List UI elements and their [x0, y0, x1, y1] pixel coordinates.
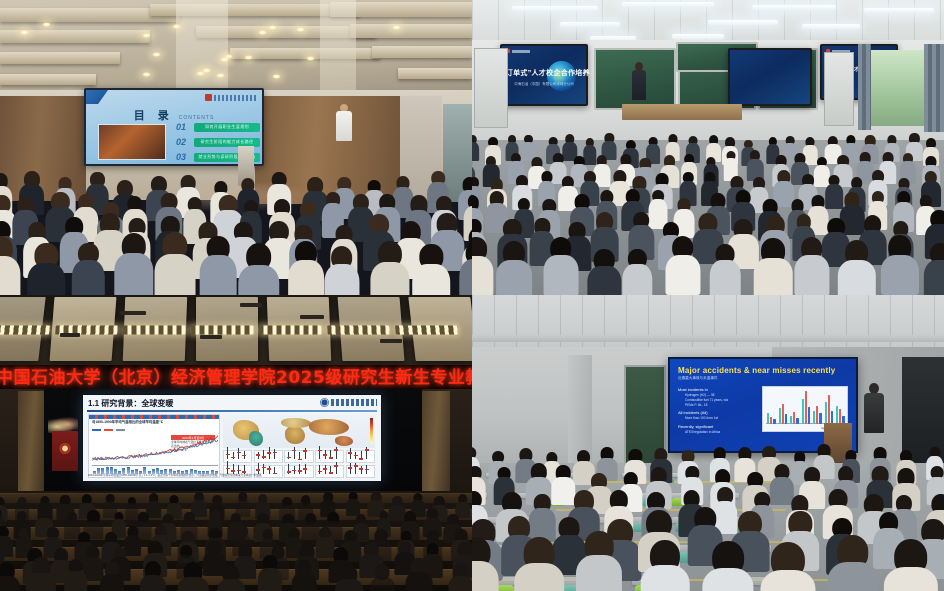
agenda-number: 02	[176, 137, 189, 147]
downlight-icon	[42, 22, 51, 27]
downlight-icon	[202, 68, 211, 73]
audience-member	[884, 539, 938, 591]
audience-member	[258, 555, 282, 591]
ceiling-beam	[0, 52, 120, 64]
person-body	[0, 576, 20, 591]
audience-member	[702, 541, 753, 591]
median-marker	[329, 457, 333, 459]
audience-member	[665, 236, 700, 295]
ceiling-beam	[350, 24, 472, 38]
audience-member	[370, 564, 394, 591]
display-left: “订单式”人才校企合作培养 中海石油（中国）有限公司深圳分公司	[500, 44, 588, 106]
whisker	[319, 446, 320, 459]
map-europe	[281, 418, 311, 428]
downlight-icon	[244, 55, 253, 60]
person-body	[754, 258, 793, 295]
chart-bar	[782, 404, 784, 424]
audience-member	[472, 237, 493, 295]
map-africa	[285, 426, 305, 444]
chart-bar	[808, 407, 810, 424]
person-body	[924, 260, 944, 295]
audience-member	[641, 540, 690, 591]
fluorescent-tube-icon	[622, 2, 714, 7]
median-marker	[287, 471, 291, 473]
logo-mark-icon	[205, 94, 212, 101]
person-body	[406, 572, 433, 591]
person-body	[459, 259, 472, 295]
ceiling-soffit	[320, 0, 356, 92]
ceiling-soffit	[176, 0, 228, 96]
display-right	[728, 48, 812, 106]
median-marker	[318, 471, 322, 473]
whisker	[238, 465, 239, 474]
downlight-icon	[152, 52, 161, 57]
ceiling-beam	[398, 68, 472, 79]
map-asia	[309, 419, 349, 435]
slide-bullet-list: Most incidents in Hydrogen (H2) — 38 Com…	[678, 385, 762, 435]
person-body	[324, 264, 359, 295]
quadrant-bottom-right-lecture-room: Major accidents & near misses recently 近…	[472, 295, 944, 591]
person-body	[218, 579, 246, 591]
audience-member	[72, 243, 104, 295]
whisker	[305, 464, 306, 475]
person-body	[335, 579, 363, 591]
university-wordmark	[331, 399, 377, 406]
display-slide-subtitle: 中海石油（中国）有限公司深圳分公司	[502, 82, 586, 87]
logo-wordmark	[214, 95, 258, 101]
median-marker	[318, 450, 322, 452]
whisker	[294, 447, 295, 459]
boxplot-panel	[284, 450, 313, 463]
display-slide-title: “订单式”人才校企合作培养	[502, 68, 586, 78]
boxplot-panel	[254, 450, 283, 463]
fluorescent-tube-icon	[864, 8, 934, 13]
person-body	[543, 255, 578, 295]
whisker	[330, 466, 331, 474]
fluorescent-tube-icon	[512, 6, 598, 11]
audience-member	[924, 243, 944, 295]
whisker	[274, 467, 275, 474]
median-marker	[354, 465, 358, 467]
audience-member	[881, 235, 919, 295]
list-item: 01 如何开展职业生涯规划	[176, 122, 260, 132]
median-marker	[323, 454, 327, 456]
person-body	[370, 577, 394, 591]
person-body	[702, 568, 753, 591]
whisker	[305, 448, 306, 460]
bullet-sub: ATEX/regulation in Africa	[685, 430, 762, 435]
chart-bar	[839, 409, 841, 424]
audience-member	[154, 232, 195, 295]
tick-bar	[106, 467, 109, 474]
bullet-head: All incidents (All)	[678, 410, 762, 415]
person-body	[794, 255, 829, 295]
fluorescent-tube-icon	[752, 5, 836, 10]
light-strip-icon	[123, 326, 185, 335]
map-oceania	[335, 436, 353, 446]
person-body	[448, 576, 472, 591]
downlight-icon	[258, 30, 267, 35]
chart-header-band	[89, 415, 219, 419]
whisker	[336, 447, 337, 460]
downlight-icon	[296, 27, 305, 32]
light-strip-icon	[395, 326, 458, 335]
audience-member	[472, 537, 499, 591]
audience-member	[140, 561, 166, 591]
agenda-number: 01	[176, 122, 189, 132]
median-marker	[303, 450, 307, 452]
person-body	[837, 260, 875, 295]
speaker-body	[336, 111, 352, 141]
audience-member	[238, 243, 279, 295]
audience-crowd	[472, 110, 944, 295]
median-marker	[298, 459, 302, 461]
slide-subtitle: 近期重大事故与未遂事件	[678, 376, 718, 381]
audience-member	[543, 237, 578, 295]
median-marker	[292, 450, 296, 452]
audience-member	[28, 243, 65, 295]
brand-wordmark	[512, 50, 530, 53]
audience-member	[514, 537, 564, 591]
university-emblem-icon	[60, 443, 71, 454]
median-marker	[292, 470, 296, 472]
median-marker	[237, 452, 241, 454]
light-strip-icon	[259, 326, 321, 335]
whisker	[263, 450, 264, 459]
whisker	[325, 450, 326, 459]
ceiling-vent	[300, 315, 324, 319]
median-marker	[256, 469, 260, 471]
person-body	[665, 255, 700, 295]
whisker	[361, 451, 362, 459]
presentation-screen: 目 录CONTENTS 01 如何开展职业生涯规划 02 研究生阶段的能力成长路…	[84, 88, 264, 166]
world-heat-map	[223, 414, 375, 448]
audience-member	[370, 241, 409, 295]
slide-title: Major accidents & near misses recently	[678, 366, 835, 375]
person-body	[760, 570, 815, 591]
light-strip-icon	[327, 326, 390, 335]
person-body	[178, 577, 209, 591]
median-marker	[273, 452, 277, 454]
person-body	[472, 256, 493, 295]
person-body	[114, 253, 153, 295]
agenda-label: 如何开展职业生涯规划	[194, 123, 260, 132]
whisker	[366, 447, 367, 460]
whisker	[361, 466, 362, 475]
downlight-icon	[172, 24, 181, 29]
median-marker	[226, 468, 230, 470]
median-marker	[348, 452, 352, 454]
whisker	[227, 447, 228, 459]
median-marker	[262, 456, 266, 458]
whisker	[355, 452, 356, 459]
median-marker	[323, 468, 327, 470]
light-strip-icon	[0, 326, 50, 335]
downlight-icon	[306, 56, 315, 61]
person-body	[827, 562, 878, 591]
slide-corner-decor	[86, 90, 108, 104]
audience-member	[100, 561, 124, 591]
boxplot-panel	[346, 450, 375, 463]
person-body	[200, 255, 237, 295]
downlight-icon	[20, 30, 29, 35]
fluorescent-tube-icon	[672, 34, 724, 39]
whisker	[233, 464, 234, 474]
median-marker	[348, 467, 352, 469]
audience-member	[754, 238, 793, 295]
ceiling-vent	[60, 333, 80, 337]
whisker	[366, 465, 367, 474]
median-marker	[267, 468, 271, 470]
tick-bar	[143, 467, 146, 474]
speaker-figure	[336, 104, 352, 148]
chart-bar	[813, 411, 815, 424]
slide-footnote: 2023-2024年全球平均温度比1850-1900年升高了1.1-1.2℃；最…	[88, 474, 376, 478]
chart-bar	[836, 406, 838, 424]
whisker	[350, 463, 351, 474]
ceiling-beam	[472, 335, 944, 342]
chart-bar	[819, 413, 821, 424]
audience-member	[413, 244, 451, 295]
median-marker	[354, 455, 358, 457]
chart-bar	[785, 414, 787, 424]
chart-bar	[828, 395, 830, 424]
whisker	[330, 450, 331, 459]
audience-member	[827, 535, 878, 591]
median-marker	[334, 465, 338, 467]
median-marker	[359, 458, 363, 460]
person-body	[258, 568, 282, 591]
person-body	[881, 255, 919, 295]
fluorescent-tube-icon	[708, 20, 778, 25]
whisker	[319, 465, 320, 474]
display-brand-logo	[506, 49, 530, 53]
ceiling-vent	[240, 303, 262, 307]
median-marker	[298, 470, 302, 472]
led-banner-text: 中国石油大学（北京）经济管理学院2025级研究生新生专业教育	[0, 370, 472, 387]
slide-logo	[320, 398, 377, 407]
person-body	[710, 260, 741, 295]
chart-bar	[816, 406, 818, 424]
audience-member	[0, 562, 20, 591]
person-body	[623, 264, 652, 295]
person-body	[472, 561, 499, 591]
slide-title: 目 录CONTENTS	[86, 107, 262, 123]
whisker	[233, 452, 234, 460]
whisker	[244, 465, 245, 474]
audience-member	[292, 560, 317, 591]
tick-bar	[110, 467, 113, 474]
median-marker	[303, 468, 307, 470]
person-body	[64, 571, 87, 591]
median-marker	[287, 457, 291, 459]
person-body	[370, 262, 409, 295]
median-marker	[262, 467, 266, 469]
person-body	[884, 567, 938, 591]
median-marker	[334, 449, 338, 451]
ceiling-vent	[380, 339, 402, 343]
audience-member	[288, 241, 324, 295]
audience-crowd	[0, 481, 472, 591]
audience-member	[335, 565, 363, 591]
downlight-icon	[142, 33, 151, 38]
chart-bar	[825, 402, 827, 424]
chart-bar	[793, 412, 795, 424]
fluorescent-tube-icon	[560, 22, 620, 27]
chart-bar	[802, 399, 804, 424]
speaker-figure	[864, 383, 884, 445]
audience-member	[114, 233, 153, 295]
median-marker	[267, 452, 271, 454]
chart-axis	[92, 465, 218, 466]
person-body	[140, 575, 166, 591]
person-body	[292, 573, 317, 591]
audience-member	[588, 249, 621, 295]
map-colorbar	[370, 418, 373, 444]
downlight-icon	[216, 73, 225, 78]
median-marker	[242, 455, 246, 457]
chart-bar	[796, 418, 798, 424]
ceiling-beam	[372, 46, 472, 58]
whisker	[274, 449, 275, 459]
whisker	[325, 465, 326, 475]
person-body	[588, 266, 621, 295]
person-body	[154, 254, 195, 295]
whisker	[299, 452, 300, 459]
chart-bar	[805, 391, 807, 424]
audience-member	[496, 241, 532, 295]
downlight-icon	[142, 72, 151, 77]
light-strip-icon	[192, 326, 254, 335]
university-seal-icon	[320, 398, 329, 407]
whisker	[269, 466, 270, 474]
whisker	[355, 463, 356, 474]
whisker	[288, 452, 289, 460]
chart-caption: 与1850-1900年平均气温相比的全球平均温度℃	[92, 420, 163, 424]
whisker	[294, 466, 295, 474]
audience-member	[178, 562, 209, 591]
whisker	[258, 463, 259, 474]
audience-member	[576, 531, 622, 591]
teacher-figure	[632, 62, 646, 106]
teacher-body	[632, 70, 646, 100]
whisker	[244, 451, 245, 459]
whisker	[227, 461, 228, 474]
audience-member	[710, 244, 741, 295]
bullet-head: Recently, significant	[678, 424, 762, 429]
median-marker	[231, 470, 235, 472]
whisker	[258, 452, 259, 459]
whisker	[269, 447, 270, 459]
downlight-icon	[272, 74, 281, 79]
whisker	[299, 464, 300, 474]
audience-member	[448, 563, 472, 591]
bullet-head: Most incidents in	[678, 387, 762, 392]
podium	[52, 431, 78, 471]
person-body	[0, 256, 20, 295]
person-body	[496, 260, 532, 295]
median-marker	[365, 449, 369, 451]
audience-member	[0, 236, 20, 295]
temperature-chart: 与1850-1900年平均气温相比的全球平均温度℃ 2024年1月至8月 全球平…	[88, 414, 220, 478]
whisker	[350, 448, 351, 459]
person-body	[288, 260, 324, 295]
median-marker	[365, 469, 369, 471]
chart-bar	[773, 419, 775, 424]
audience-member	[760, 542, 815, 591]
person-body	[100, 574, 124, 591]
quadrant-bottom-left-auditorium: 中国石油大学（北京）经济管理学院2025级研究生新生专业教育 1.1 研究背景：…	[0, 295, 472, 591]
whisker	[238, 448, 239, 459]
temperature-series-svg	[92, 430, 218, 466]
median-marker	[256, 454, 260, 456]
median-marker	[226, 454, 230, 456]
ceiling-vent	[200, 335, 222, 339]
led-banner: 中国石油大学（北京）经济管理学院2025级研究生新生专业教育	[0, 365, 472, 391]
median-marker	[359, 468, 363, 470]
quadrant-top-right-classroom: “订单式”人才校企合作培养 中海石油（中国）有限公司深圳分公司 “订单式”人才校…	[472, 0, 944, 295]
audience-member	[837, 240, 875, 295]
audience-member	[623, 249, 652, 295]
audience-member	[406, 558, 433, 591]
ceiling-vent	[120, 311, 146, 315]
audience-member	[64, 559, 87, 591]
projection-screen: 1.1 研究背景：全球变暖 与1850-1900年平均气温相比的全球平均温度℃ …	[82, 394, 382, 482]
downlight-icon	[268, 25, 277, 30]
bullet-sub: More than 100 from 1st	[685, 416, 762, 421]
boxplot-panel	[315, 450, 344, 463]
audience-member	[794, 237, 829, 295]
audience-member	[459, 242, 472, 295]
person-body	[576, 555, 622, 591]
ceiling-beam	[0, 74, 96, 85]
tick-bar	[127, 467, 130, 474]
person-body	[28, 263, 65, 295]
audience-member	[26, 557, 56, 591]
audience-member	[200, 236, 237, 295]
audience-member	[218, 565, 246, 591]
photo-collage: 目 录CONTENTS 01 如何开展职业生涯规划 02 研究生阶段的能力成长路…	[0, 0, 944, 591]
person-body	[514, 563, 564, 591]
audience-crowd	[472, 441, 944, 591]
person-body	[413, 264, 451, 295]
person-body	[72, 260, 104, 295]
downlight-icon	[392, 25, 401, 30]
slide-divider	[87, 410, 377, 412]
person-body	[26, 573, 56, 591]
downlight-icon	[220, 57, 229, 62]
whisker	[336, 462, 337, 474]
slide-logo	[205, 94, 258, 101]
median-marker	[242, 471, 246, 473]
audience-crowd	[0, 160, 472, 295]
bullet-sub: PEMs P. ltd., 18	[685, 403, 762, 408]
speaker-body	[864, 393, 884, 433]
whisker	[263, 464, 264, 474]
whisker	[288, 464, 289, 474]
slide-title: 1.1 研究背景：全球变暖	[88, 398, 173, 409]
map-south-america	[249, 431, 263, 446]
person-body	[641, 565, 690, 591]
person-body	[238, 265, 279, 296]
median-marker	[231, 457, 235, 459]
audience-member	[324, 246, 359, 295]
median-marker	[237, 470, 241, 472]
slide-photo	[98, 124, 166, 160]
chart-bar	[779, 408, 781, 424]
fluorescent-tube-icon	[802, 24, 860, 29]
quadrant-top-left-conference-hall: 目 录CONTENTS 01 如何开展职业生涯规划 02 研究生阶段的能力成长路…	[0, 0, 472, 295]
